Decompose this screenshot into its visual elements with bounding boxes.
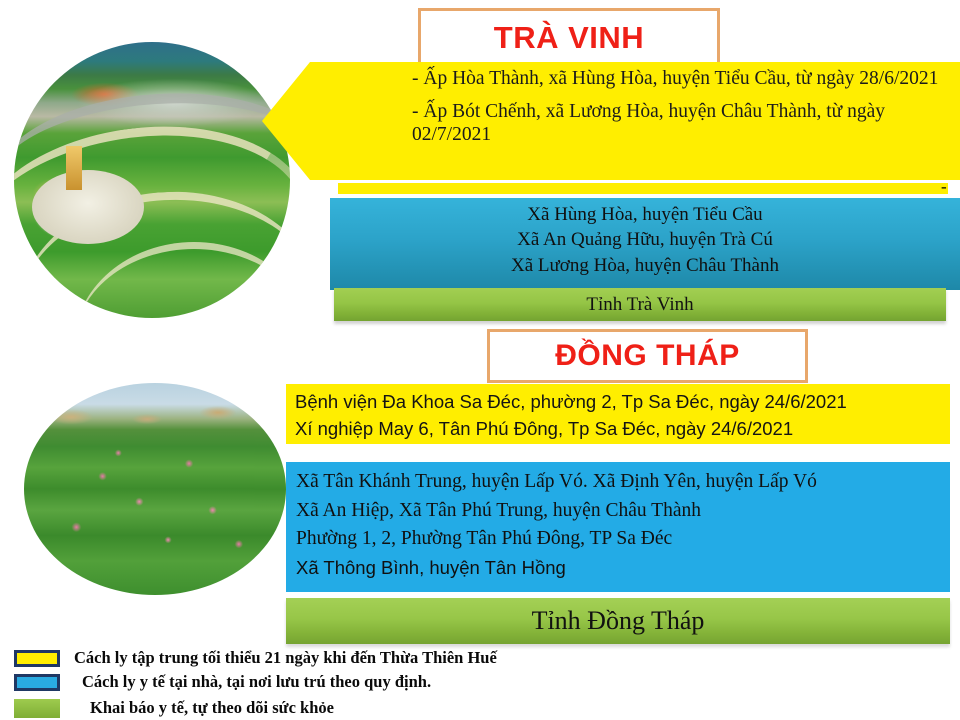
tra-vinh-title-box: TRÀ VINH [418, 8, 720, 68]
legend-swatch-yellow [14, 650, 60, 667]
dong-thap-title-box: ĐỒNG THÁP [487, 329, 808, 383]
dong-thap-blue-line-2: Xã An Hiệp, Xã Tân Phú Trung, huyện Châu… [296, 497, 944, 526]
dong-thap-blue-line-4: Xã Thông Bình, huyện Tân Hồng [296, 554, 944, 581]
legend-item-yellow: Cách ly tập trung tối thiểu 21 ngày khi … [14, 648, 497, 668]
legend-label-green: Khai báo y tế, tự theo dõi sức khỏe [90, 698, 334, 718]
dong-thap-yellow-line-1: Bệnh viện Đa Khoa Sa Đéc, phường 2, Tp S… [295, 388, 944, 415]
tra-vinh-blue-line-1: Xã Hùng Hòa, huyện Tiểu Cầu [330, 202, 960, 227]
tra-vinh-quarantine-line-1: - Ấp Hòa Thành, xã Hùng Hòa, huyện Tiểu … [412, 68, 948, 91]
dong-thap-blue-line-1: Xã Tân Khánh Trung, huyện Lấp Vó. Xã Địn… [296, 468, 944, 497]
dong-thap-home-quarantine-box: Xã Tân Khánh Trung, huyện Lấp Vó. Xã Địn… [286, 462, 950, 592]
tra-vinh-province-label: Tỉnh Trà Vinh [586, 294, 693, 315]
tra-vinh-quarantine-line-2: - Ấp Bót Chếnh, xã Lương Hòa, huyện Châu… [412, 101, 948, 147]
legend-item-blue: Cách ly y tế tại nhà, tại nơi lưu trú th… [14, 672, 431, 692]
tra-vinh-quarantine-banner: - Ấp Hòa Thành, xã Hùng Hòa, huyện Tiểu … [262, 62, 960, 180]
dong-thap-quarantine-box: Bệnh viện Đa Khoa Sa Đéc, phường 2, Tp S… [286, 384, 950, 444]
dong-thap-blue-line-3: Phường 1, 2, Phường Tân Phú Đông, TP Sa … [296, 525, 944, 554]
tra-vinh-blue-line-3: Xã Lương Hòa, huyện Châu Thành [330, 253, 960, 278]
tra-vinh-blue-line-2: Xã An Quảng Hữu, huyện Trà Cú [330, 227, 960, 252]
dong-thap-province-bar: Tỉnh Đồng Tháp [286, 598, 950, 644]
tra-vinh-photo [14, 42, 290, 318]
dong-thap-title-text: ĐỒNG THÁP [555, 339, 740, 373]
legend-label-yellow: Cách ly tập trung tối thiểu 21 ngày khi … [74, 648, 497, 668]
legend-swatch-green [14, 699, 60, 718]
dong-thap-photo [24, 383, 286, 595]
photo-plaza-shape [32, 170, 144, 244]
tra-vinh-province-bar: Tỉnh Trà Vinh [334, 288, 946, 321]
legend-label-blue: Cách ly y tế tại nhà, tại nơi lưu trú th… [82, 672, 431, 692]
dong-thap-province-label: Tỉnh Đồng Tháp [532, 606, 705, 635]
dong-thap-yellow-line-2: Xí nghiệp May 6, Tân Phú Đông, Tp Sa Đéc… [295, 415, 944, 442]
photo-monument-shape [66, 146, 82, 190]
tra-vinh-home-quarantine-box: Xã Hùng Hòa, huyện Tiểu Cầu Xã An Quảng … [330, 198, 960, 290]
tra-vinh-strip-dash-text: - [941, 181, 951, 193]
legend-swatch-blue [14, 674, 60, 691]
slide-canvas: TRÀ VINH - Ấp Hòa Thành, xã Hùng Hòa, hu… [0, 0, 960, 720]
legend-item-green: Khai báo y tế, tự theo dõi sức khỏe [14, 698, 334, 718]
tra-vinh-yellow-strip [338, 182, 948, 195]
tra-vinh-title-text: TRÀ VINH [494, 20, 644, 56]
